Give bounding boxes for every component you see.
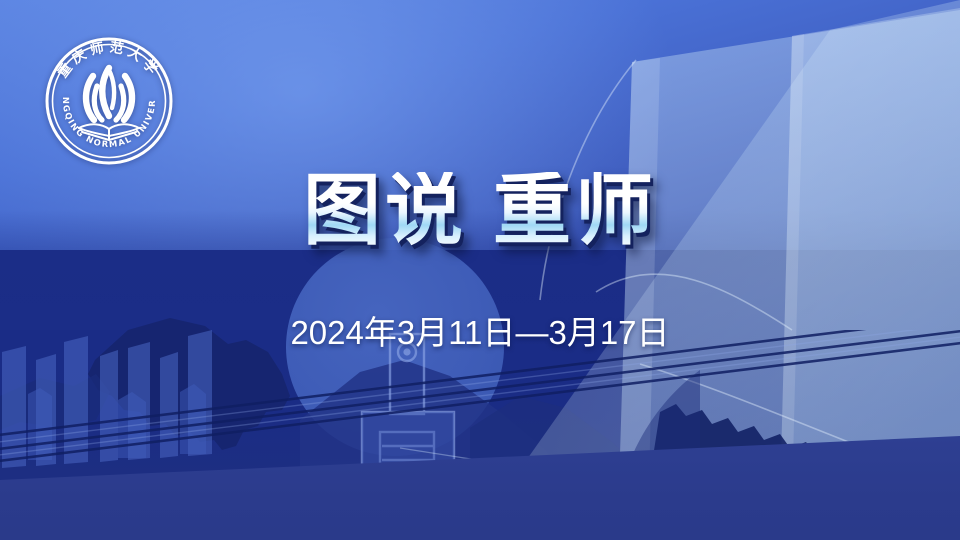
slide-date: 2024年3月11日—3月17日 [0,306,960,354]
presentation-slide: 重庆师范大学 CHONGQING NORMAL UNIVERSITY [0,0,960,540]
slide-date-text: 2024年3月11日—3月17日 [290,306,669,354]
university-logo: 重庆师范大学 CHONGQING NORMAL UNIVERSITY [36,28,182,174]
